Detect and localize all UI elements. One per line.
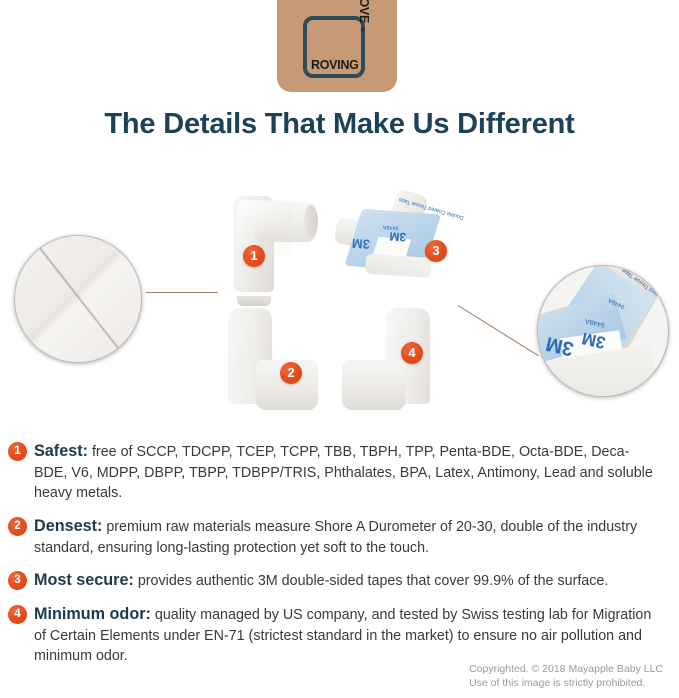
logo-frame: ROVING COVE ®: [303, 16, 365, 78]
magnifier-foam-surface: [14, 235, 142, 363]
feature-badge-1: 1: [8, 442, 27, 461]
guard-bevel-highlight: [236, 200, 292, 256]
brand-logo: ROVING COVE ®: [277, 0, 397, 92]
feature-body-1: free of SCCP, TDCPP, TCEP, TCPP, TBB, TB…: [34, 444, 653, 501]
guard-horizontal-arm: [342, 360, 406, 410]
feature-label-3: Most secure:: [34, 571, 134, 589]
magnifier-3m-tape: 3M 3M 9448A 9448A Double Coated Tissue T…: [537, 265, 669, 397]
callout-line-left: [146, 292, 218, 293]
feature-body-3: provides authentic 3M double-sided tapes…: [134, 573, 608, 589]
callout-line-right: [458, 305, 539, 356]
guard-foot: [237, 296, 271, 306]
feature-badge-3: 3: [8, 571, 27, 590]
feature-label-4: Minimum odor:: [34, 605, 151, 623]
registered-trademark-icon: ®: [361, 28, 365, 34]
guard-end-cap: [304, 205, 318, 238]
logo-wordmark-cove: COVE: [358, 0, 371, 23]
copyright-line-1: Copyrighted. © 2018 Mayapple Baby LLC: [469, 662, 663, 676]
copyright-line-2: Use of this image is strictly prohibited…: [469, 676, 663, 690]
tape-brand-label-secondary: 3M: [389, 229, 407, 244]
feature-text-4: Minimum odor: quality managed by US comp…: [34, 603, 661, 667]
foam-seam-line: [23, 235, 133, 363]
page-title: The Details That Make Us Different: [0, 108, 679, 141]
feature-text-1: Safest: free of SCCP, TDCPP, TCEP, TCPP,…: [34, 440, 661, 504]
tape-code-label: 9448A: [383, 224, 399, 231]
tape-zoom-scene: 3M 3M 9448A 9448A Double Coated Tissue T…: [538, 266, 668, 396]
feature-item: 2 Densest: premium raw materials measure…: [0, 515, 679, 558]
feature-text-3: Most secure: provides authentic 3M doubl…: [34, 569, 661, 592]
feature-body-2: premium raw materials measure Shore A Du…: [34, 519, 637, 556]
feature-item: 3 Most secure: provides authentic 3M dou…: [0, 569, 679, 592]
product-corner-guard-2: [228, 308, 318, 410]
feature-list: 1 Safest: free of SCCP, TDCPP, TCEP, TCP…: [0, 440, 679, 677]
logo-wordmark-roving: ROVING: [311, 59, 359, 72]
feature-badge-4: 4: [8, 605, 27, 624]
feature-item: 1 Safest: free of SCCP, TDCPP, TCEP, TCP…: [0, 440, 679, 504]
product-badge-3: 3: [425, 240, 447, 262]
product-badge-4: 4: [401, 342, 423, 364]
feature-label-1: Safest:: [34, 442, 88, 460]
product-showcase: 1 2 3M 3M 9448A Double Coated Tissue Tap…: [0, 160, 679, 420]
product-badge-1: 1: [243, 245, 265, 267]
feature-badge-2: 2: [8, 517, 27, 536]
feature-text-2: Densest: premium raw materials measure S…: [34, 515, 661, 558]
guard-foam-edge: [365, 253, 432, 278]
tape-brand-label: 3M: [351, 236, 370, 252]
feature-label-2: Densest:: [34, 517, 102, 535]
feature-item: 4 Minimum odor: quality managed by US co…: [0, 603, 679, 667]
product-badge-2: 2: [280, 362, 302, 384]
copyright-notice: Copyrighted. © 2018 Mayapple Baby LLC Us…: [469, 662, 663, 690]
product-corner-guard-1: [228, 196, 320, 306]
